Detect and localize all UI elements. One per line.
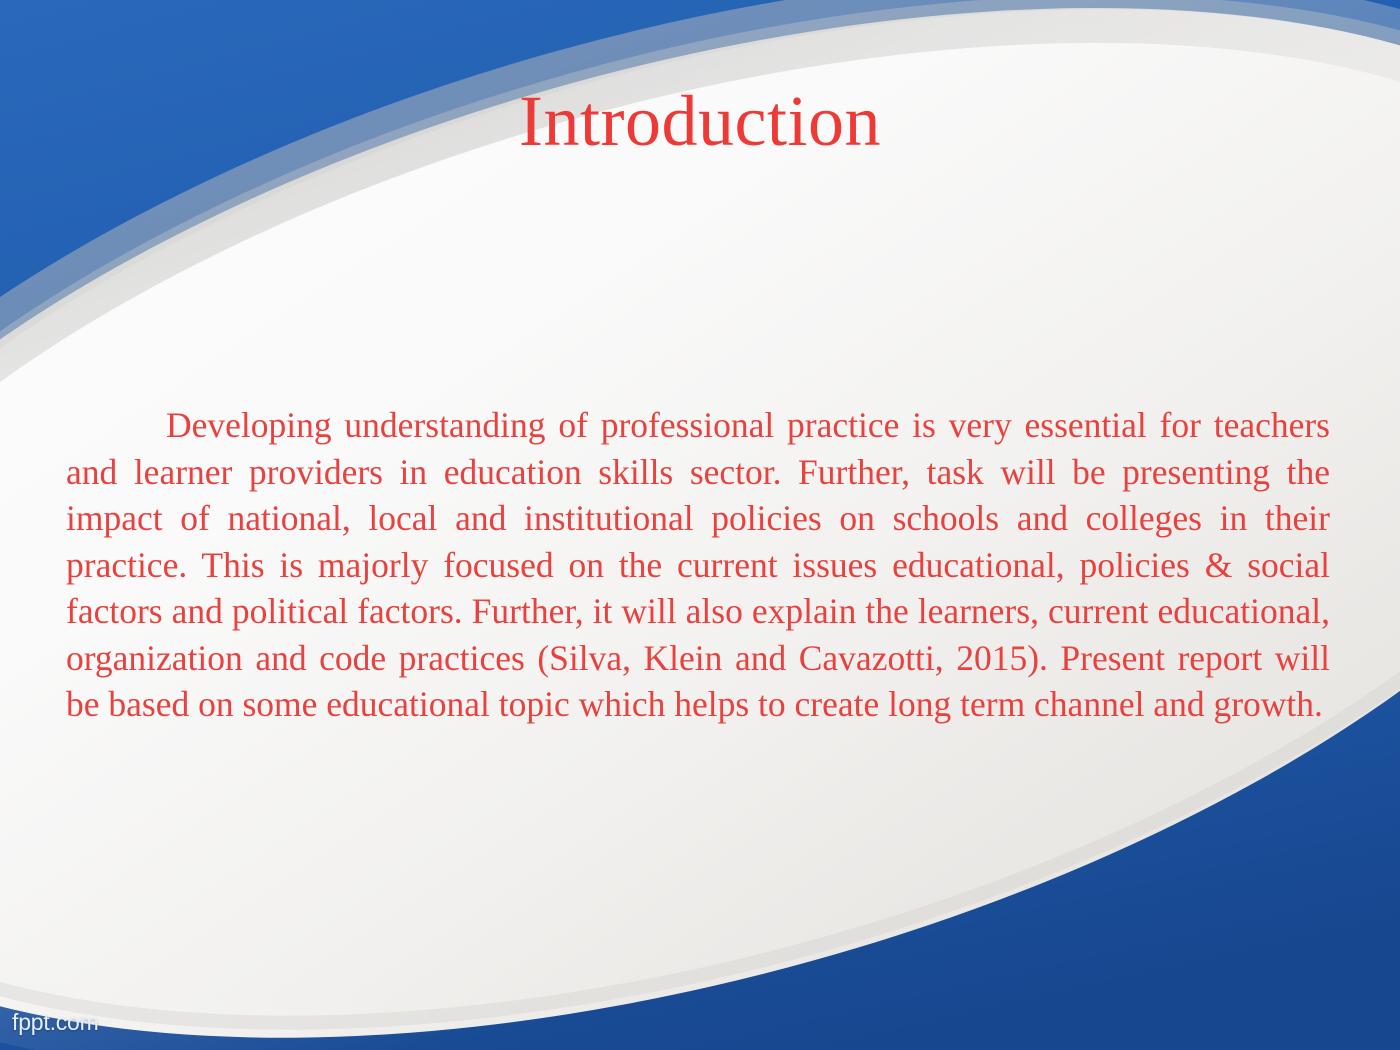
presentation-slide: Introduction Developing understanding of…	[0, 0, 1400, 1050]
fppt-watermark: fppt.com	[12, 1009, 99, 1036]
body-paragraph: Developing understanding of professional…	[66, 402, 1330, 728]
body-container: Developing understanding of professional…	[66, 402, 1330, 728]
title-container: Introduction	[0, 84, 1400, 160]
page-title: Introduction	[519, 84, 881, 160]
